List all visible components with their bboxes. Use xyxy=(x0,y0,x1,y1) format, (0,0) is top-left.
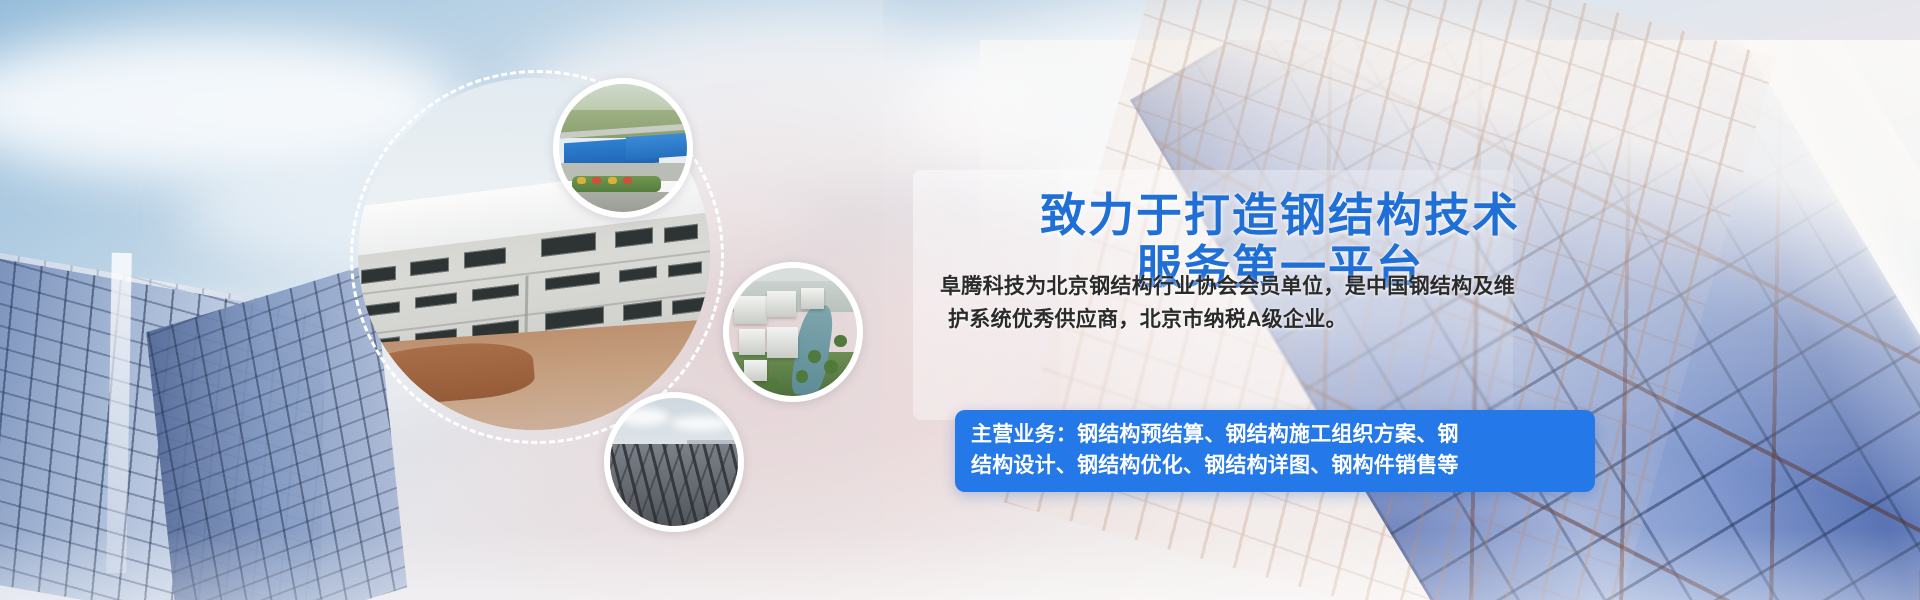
window xyxy=(623,300,662,321)
thumb-tree xyxy=(834,335,847,348)
thumb-building xyxy=(801,288,824,308)
window xyxy=(361,266,396,284)
window xyxy=(664,224,699,243)
window xyxy=(463,247,506,268)
thumb-building xyxy=(767,291,795,317)
building-corner xyxy=(524,275,528,336)
headline-line-1: 致力于打造钢结构技术 xyxy=(930,189,1630,241)
thumb-circle-steel-truss xyxy=(604,392,744,532)
business-line-1: 主营业务：钢结构预结算、钢结构施工组织方案、钢 xyxy=(971,423,1459,446)
thumb-foreground xyxy=(559,192,687,212)
window xyxy=(414,293,457,309)
window xyxy=(541,232,596,256)
thumb-flowerbed xyxy=(608,177,617,183)
window xyxy=(545,271,600,290)
business-line-2: 结构设计、钢结构优化、钢结构详图、钢构件销售等 xyxy=(971,450,1579,481)
thumb-steel-truss-deck xyxy=(604,444,744,532)
thumb-tree xyxy=(808,350,821,363)
thumb-circle-factory-aerial xyxy=(553,78,693,218)
window xyxy=(668,261,703,277)
window xyxy=(619,265,658,282)
hero-banner: 致力于打造钢结构技术 服务第一平台 阜腾科技为北京钢结构行业协会会员单位，是中国… xyxy=(0,0,1920,600)
window xyxy=(672,296,707,315)
description-line-1: 阜腾科技为北京钢结构行业协会会员单位，是中国钢结构及维 xyxy=(940,275,1515,298)
window xyxy=(361,301,400,317)
thumb-circle-campus-riverside xyxy=(723,262,863,402)
window xyxy=(410,257,449,276)
thumb-building xyxy=(734,296,767,324)
description-line-2: 护系统优秀供应商，北京市纳税A级企业。 xyxy=(940,303,1600,336)
thumb-building xyxy=(767,327,798,358)
thumb-building xyxy=(739,329,765,355)
business-scope-box: 主营业务：钢结构预结算、钢结构施工组织方案、钢 结构设计、钢结构优化、钢结构详图… xyxy=(955,410,1595,492)
thumb-tree xyxy=(824,360,838,374)
thumb-flowerbed xyxy=(623,177,632,183)
thumb-flowerbed xyxy=(577,177,586,183)
thumb-cloud xyxy=(618,408,669,426)
thumb-tree xyxy=(767,378,779,390)
left-glass-building-photo xyxy=(0,239,399,600)
window xyxy=(615,227,654,248)
thumb-building xyxy=(744,360,767,380)
window xyxy=(472,284,519,302)
thumb-flowerbed xyxy=(592,177,601,183)
thumb-blue-roof xyxy=(626,133,687,160)
company-description: 阜腾科技为北京钢结构行业协会会员单位，是中国钢结构及维 护系统优秀供应商，北京市… xyxy=(940,270,1600,336)
